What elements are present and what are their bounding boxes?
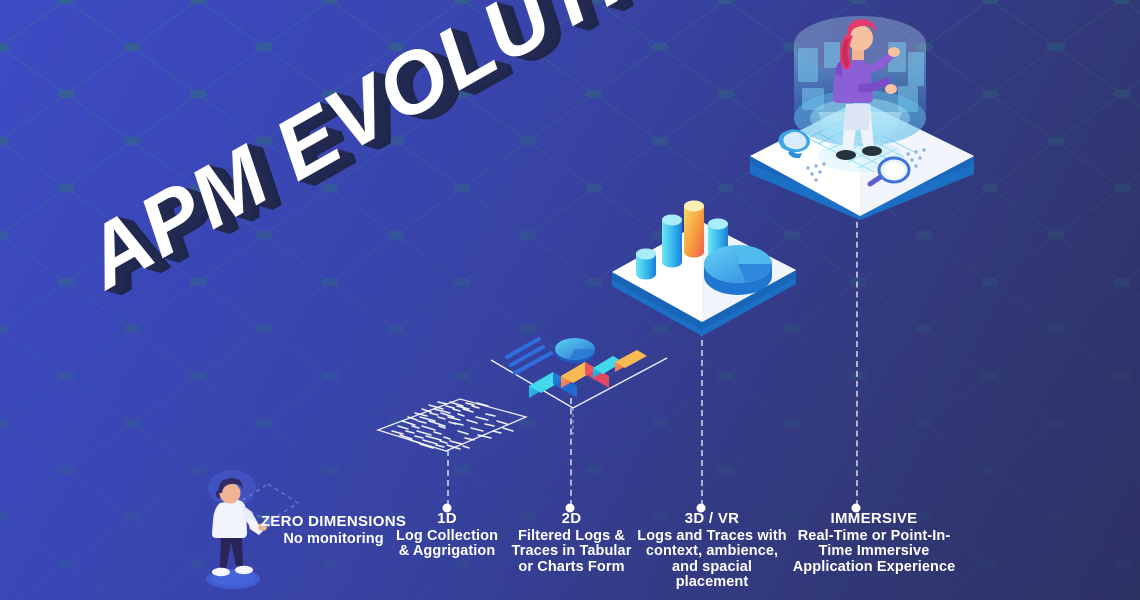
stage-title-1d: 1D bbox=[394, 511, 500, 527]
stage-label-1d: 1D Log Collection & Aggrigation bbox=[394, 511, 500, 560]
stage-desc-2d: Filtered Logs & Traces in Tabular or Cha… bbox=[509, 529, 634, 576]
infographic-canvas: APM EVOLUTION bbox=[0, 0, 1140, 600]
connector-line-immersive bbox=[856, 212, 858, 506]
stage-desc-immersive: Real-Time or Point-In-Time Immersive App… bbox=[786, 529, 962, 576]
stage-title-immersive: IMMERSIVE bbox=[786, 511, 962, 527]
stage-label-2d: 2D Filtered Logs & Traces in Tabular or … bbox=[509, 511, 634, 575]
pie-chart-icon bbox=[555, 338, 595, 363]
stage-desc-3d: Logs and Traces with context, ambience, … bbox=[637, 529, 787, 591]
connector-line-3d bbox=[701, 330, 703, 506]
page-title: APM EVOLUTION bbox=[71, 0, 601, 302]
stage-label-3d: 3D / VR Logs and Traces with context, am… bbox=[637, 511, 787, 591]
illustration-2d-charts bbox=[487, 332, 672, 442]
stage-desc-1d: Log Collection & Aggrigation bbox=[394, 529, 500, 560]
page-title-text: APM EVOLUTION bbox=[71, 0, 601, 302]
illustration-immersive-vr bbox=[742, 8, 982, 220]
stage-label-immersive: IMMERSIVE Real-Time or Point-In-Time Imm… bbox=[786, 511, 962, 575]
stage-title-3d: 3D / VR bbox=[637, 511, 787, 527]
pie-chart-icon bbox=[704, 245, 772, 295]
log-lines-icon bbox=[507, 339, 551, 373]
stage-title-2d: 2D bbox=[509, 511, 634, 527]
